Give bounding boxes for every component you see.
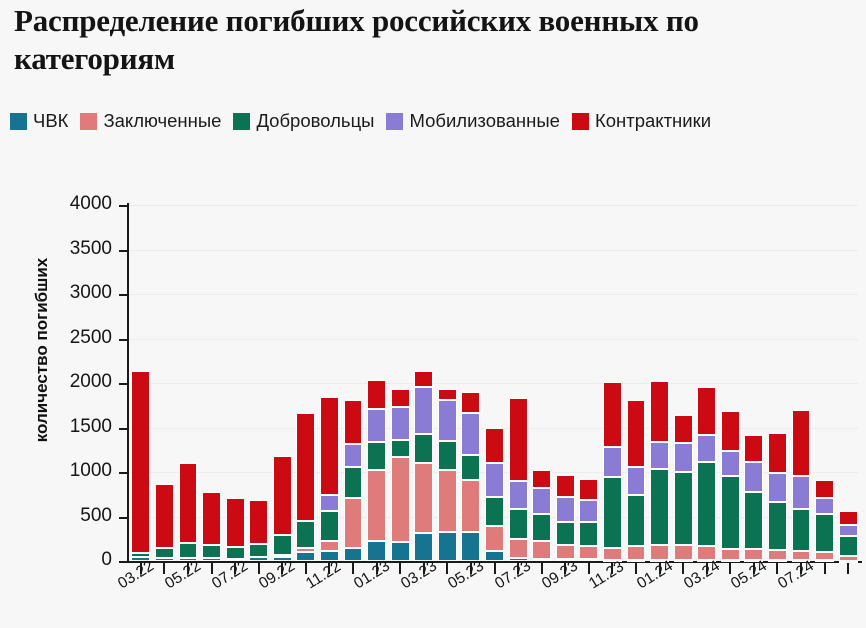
bar-segment (414, 434, 433, 463)
y-tick (119, 205, 127, 207)
bar-segment (320, 495, 339, 511)
gridline (127, 339, 858, 340)
bar-segment (226, 498, 245, 547)
bar-segment (273, 535, 292, 555)
bar-segment (320, 541, 339, 551)
bar-segment (461, 480, 480, 533)
bar-segment (792, 410, 811, 477)
bar-segment (532, 514, 551, 541)
bar-segment (155, 484, 174, 547)
bar-segment (391, 407, 410, 439)
bar-segment (367, 470, 386, 540)
y-tick-label: 2500 (40, 327, 112, 349)
bar-segment (768, 433, 787, 473)
x-tick (446, 563, 448, 574)
bar-segment (391, 440, 410, 458)
bar-segment (509, 539, 528, 558)
gridline (127, 250, 858, 251)
gridline (127, 294, 858, 295)
x-tick (682, 563, 684, 574)
bar-segment (296, 413, 315, 521)
y-tick (119, 472, 127, 474)
bar-segment (721, 476, 740, 548)
bar-segment (556, 522, 575, 545)
y-axis-line (127, 203, 129, 563)
x-tick (305, 563, 307, 574)
x-tick (635, 563, 637, 574)
bar-segment (202, 558, 221, 561)
bar-segment (155, 558, 174, 561)
bar-segment (438, 532, 457, 561)
bar-segment (579, 546, 598, 559)
y-tick (119, 250, 127, 252)
bar-segment (839, 511, 858, 525)
bar-segment (839, 556, 858, 560)
bar-segment (650, 381, 669, 442)
bar-segment (391, 389, 410, 408)
y-tick-label: 4000 (40, 193, 112, 215)
bar-segment (532, 470, 551, 488)
bar-segment (391, 457, 410, 542)
bar-segment (344, 444, 363, 466)
bar-segment (650, 469, 669, 546)
y-tick (119, 339, 127, 341)
bar-segment (579, 522, 598, 546)
bar-segment (792, 476, 811, 509)
bar-segment (179, 463, 198, 543)
bar-segment (202, 492, 221, 545)
bar-segment (461, 413, 480, 454)
gridline (127, 205, 858, 206)
bar-segment (579, 479, 598, 500)
bar-segment (579, 559, 598, 561)
bar-segment (509, 481, 528, 509)
bar-segment (768, 560, 787, 562)
bar-segment (744, 435, 763, 462)
bar-segment (744, 492, 763, 549)
bar-segment (627, 546, 646, 559)
bar-segment (367, 409, 386, 442)
bar-segment (509, 509, 528, 539)
bar-segment (815, 560, 834, 562)
bar-segment (414, 463, 433, 533)
bar-segment (296, 548, 315, 552)
bar-segment (320, 511, 339, 541)
bar-segment (815, 498, 834, 514)
bar-segment (367, 442, 386, 470)
bar-segment (485, 526, 504, 551)
x-tick (729, 563, 731, 574)
y-tick-label: 1500 (40, 416, 112, 438)
bar-segment (249, 500, 268, 544)
x-tick (776, 563, 778, 574)
bar-segment (367, 380, 386, 408)
bar-segment (627, 467, 646, 495)
x-tick (824, 563, 826, 574)
plot-area: количество погибших 05001000150020002500… (0, 0, 866, 628)
bar-segment (438, 400, 457, 441)
bar-segment (674, 472, 693, 546)
y-tick (119, 294, 127, 296)
bar-segment (320, 397, 339, 495)
bar-segment (721, 549, 740, 561)
bar-segment (485, 463, 504, 497)
bar-segment (579, 500, 598, 521)
x-tick (352, 563, 354, 574)
x-tick (541, 563, 543, 574)
x-tick (847, 563, 849, 574)
bar-segment (674, 415, 693, 443)
bar-segment (697, 435, 716, 462)
x-tick (211, 563, 213, 574)
bar-segment (721, 451, 740, 477)
y-tick-label: 3000 (40, 282, 112, 304)
bar-segment (414, 371, 433, 387)
bar-segment (603, 382, 622, 447)
bar-segment (627, 400, 646, 467)
bar-segment (344, 400, 363, 445)
bar-segment (296, 521, 315, 548)
bar-segment (768, 473, 787, 501)
bar-segment (509, 398, 528, 481)
y-tick (119, 383, 127, 385)
bar-segment (344, 467, 363, 498)
bar-segment (179, 543, 198, 558)
bar-segment (131, 371, 150, 552)
chart-page: Распределение погибших российских военны… (0, 0, 866, 628)
y-tick-label: 0 (40, 549, 112, 571)
bar-segment (744, 462, 763, 492)
bar-segment (721, 560, 740, 562)
y-tick (119, 428, 127, 430)
bar-segment (815, 514, 834, 552)
bar-segment (202, 545, 221, 558)
bar-segment (485, 428, 504, 462)
x-tick (588, 563, 590, 574)
bar-segment (296, 552, 315, 561)
y-tick (119, 517, 127, 519)
bar-segment (532, 559, 551, 561)
bar-segment (155, 548, 174, 559)
bar-segment (697, 387, 716, 435)
x-tick (163, 563, 165, 574)
bar-segment (815, 480, 834, 497)
x-tick (494, 563, 496, 574)
bar-segment (556, 475, 575, 497)
bar-segment (556, 497, 575, 522)
bar-segment (674, 545, 693, 559)
bar-segment (438, 441, 457, 469)
bar-segment (603, 477, 622, 548)
y-tick-label: 1000 (40, 460, 112, 482)
bar-segment (249, 544, 268, 557)
x-tick (258, 563, 260, 574)
bar-segment (627, 495, 646, 547)
bar-segment (532, 541, 551, 559)
bar-segment (485, 497, 504, 526)
bar-segment (839, 536, 858, 556)
bar-segment (438, 389, 457, 400)
x-tick-label: 11.23 (586, 558, 627, 593)
bar-segment (697, 462, 716, 547)
bar-segment (461, 455, 480, 480)
bar-segment (768, 502, 787, 551)
bar-segment (438, 470, 457, 532)
y-tick-label: 500 (40, 505, 112, 527)
x-tick-label: 11.22 (303, 558, 344, 593)
bar-segment (839, 525, 858, 536)
bar-segment (249, 557, 268, 561)
gridline (127, 383, 858, 384)
bar-segment (627, 560, 646, 562)
bar-segment (461, 392, 480, 413)
bar-segment (768, 550, 787, 560)
bar-segment (532, 488, 551, 515)
y-tick-label: 2000 (40, 371, 112, 393)
bar-segment (603, 548, 622, 560)
bar-segment (674, 443, 693, 471)
bar-segment (792, 509, 811, 551)
bar-segment (650, 442, 669, 469)
bar-segment (273, 456, 292, 535)
bar-segment (815, 552, 834, 560)
bar-segment (674, 560, 693, 562)
bar-segment (414, 387, 433, 434)
bar-segment (603, 447, 622, 477)
bar-segment (344, 548, 363, 561)
x-tick (399, 563, 401, 574)
y-tick-label: 3500 (40, 238, 112, 260)
bar-segment (391, 542, 410, 561)
bar-segment (485, 551, 504, 561)
y-tick (119, 561, 127, 563)
bar-segment (721, 411, 740, 451)
bar-segment (344, 498, 363, 548)
